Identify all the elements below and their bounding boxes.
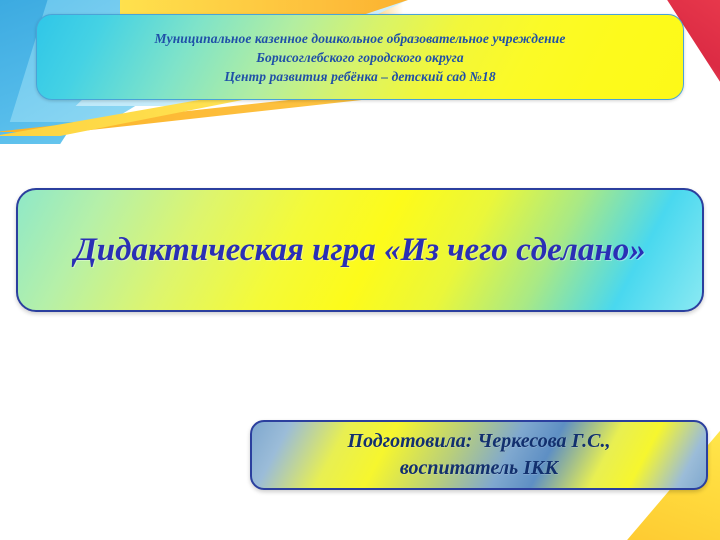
author-credit-box: Подготовила: Черкесова Г.С., воспитатель… <box>250 420 708 490</box>
institution-header-box: Муниципальное казенное дошкольное образо… <box>36 14 684 100</box>
slide-title-box: Дидактическая игра «Из чего сделано» <box>16 188 704 312</box>
presentation-slide: Муниципальное казенное дошкольное образо… <box>0 0 720 540</box>
author-line-1: Подготовила: Черкесова Г.С., <box>348 428 611 455</box>
page-title: Дидактическая игра «Из чего сделано» <box>74 230 646 270</box>
institution-line-1: Муниципальное казенное дошкольное образо… <box>155 29 566 48</box>
institution-line-2: Борисоглебского городского округа <box>256 48 463 67</box>
bottom-red-arc-decoration <box>60 484 640 540</box>
institution-line-3: Центр развития ребёнка – детский сад №18 <box>224 67 495 86</box>
author-line-2: воспитатель IКК <box>400 455 558 482</box>
